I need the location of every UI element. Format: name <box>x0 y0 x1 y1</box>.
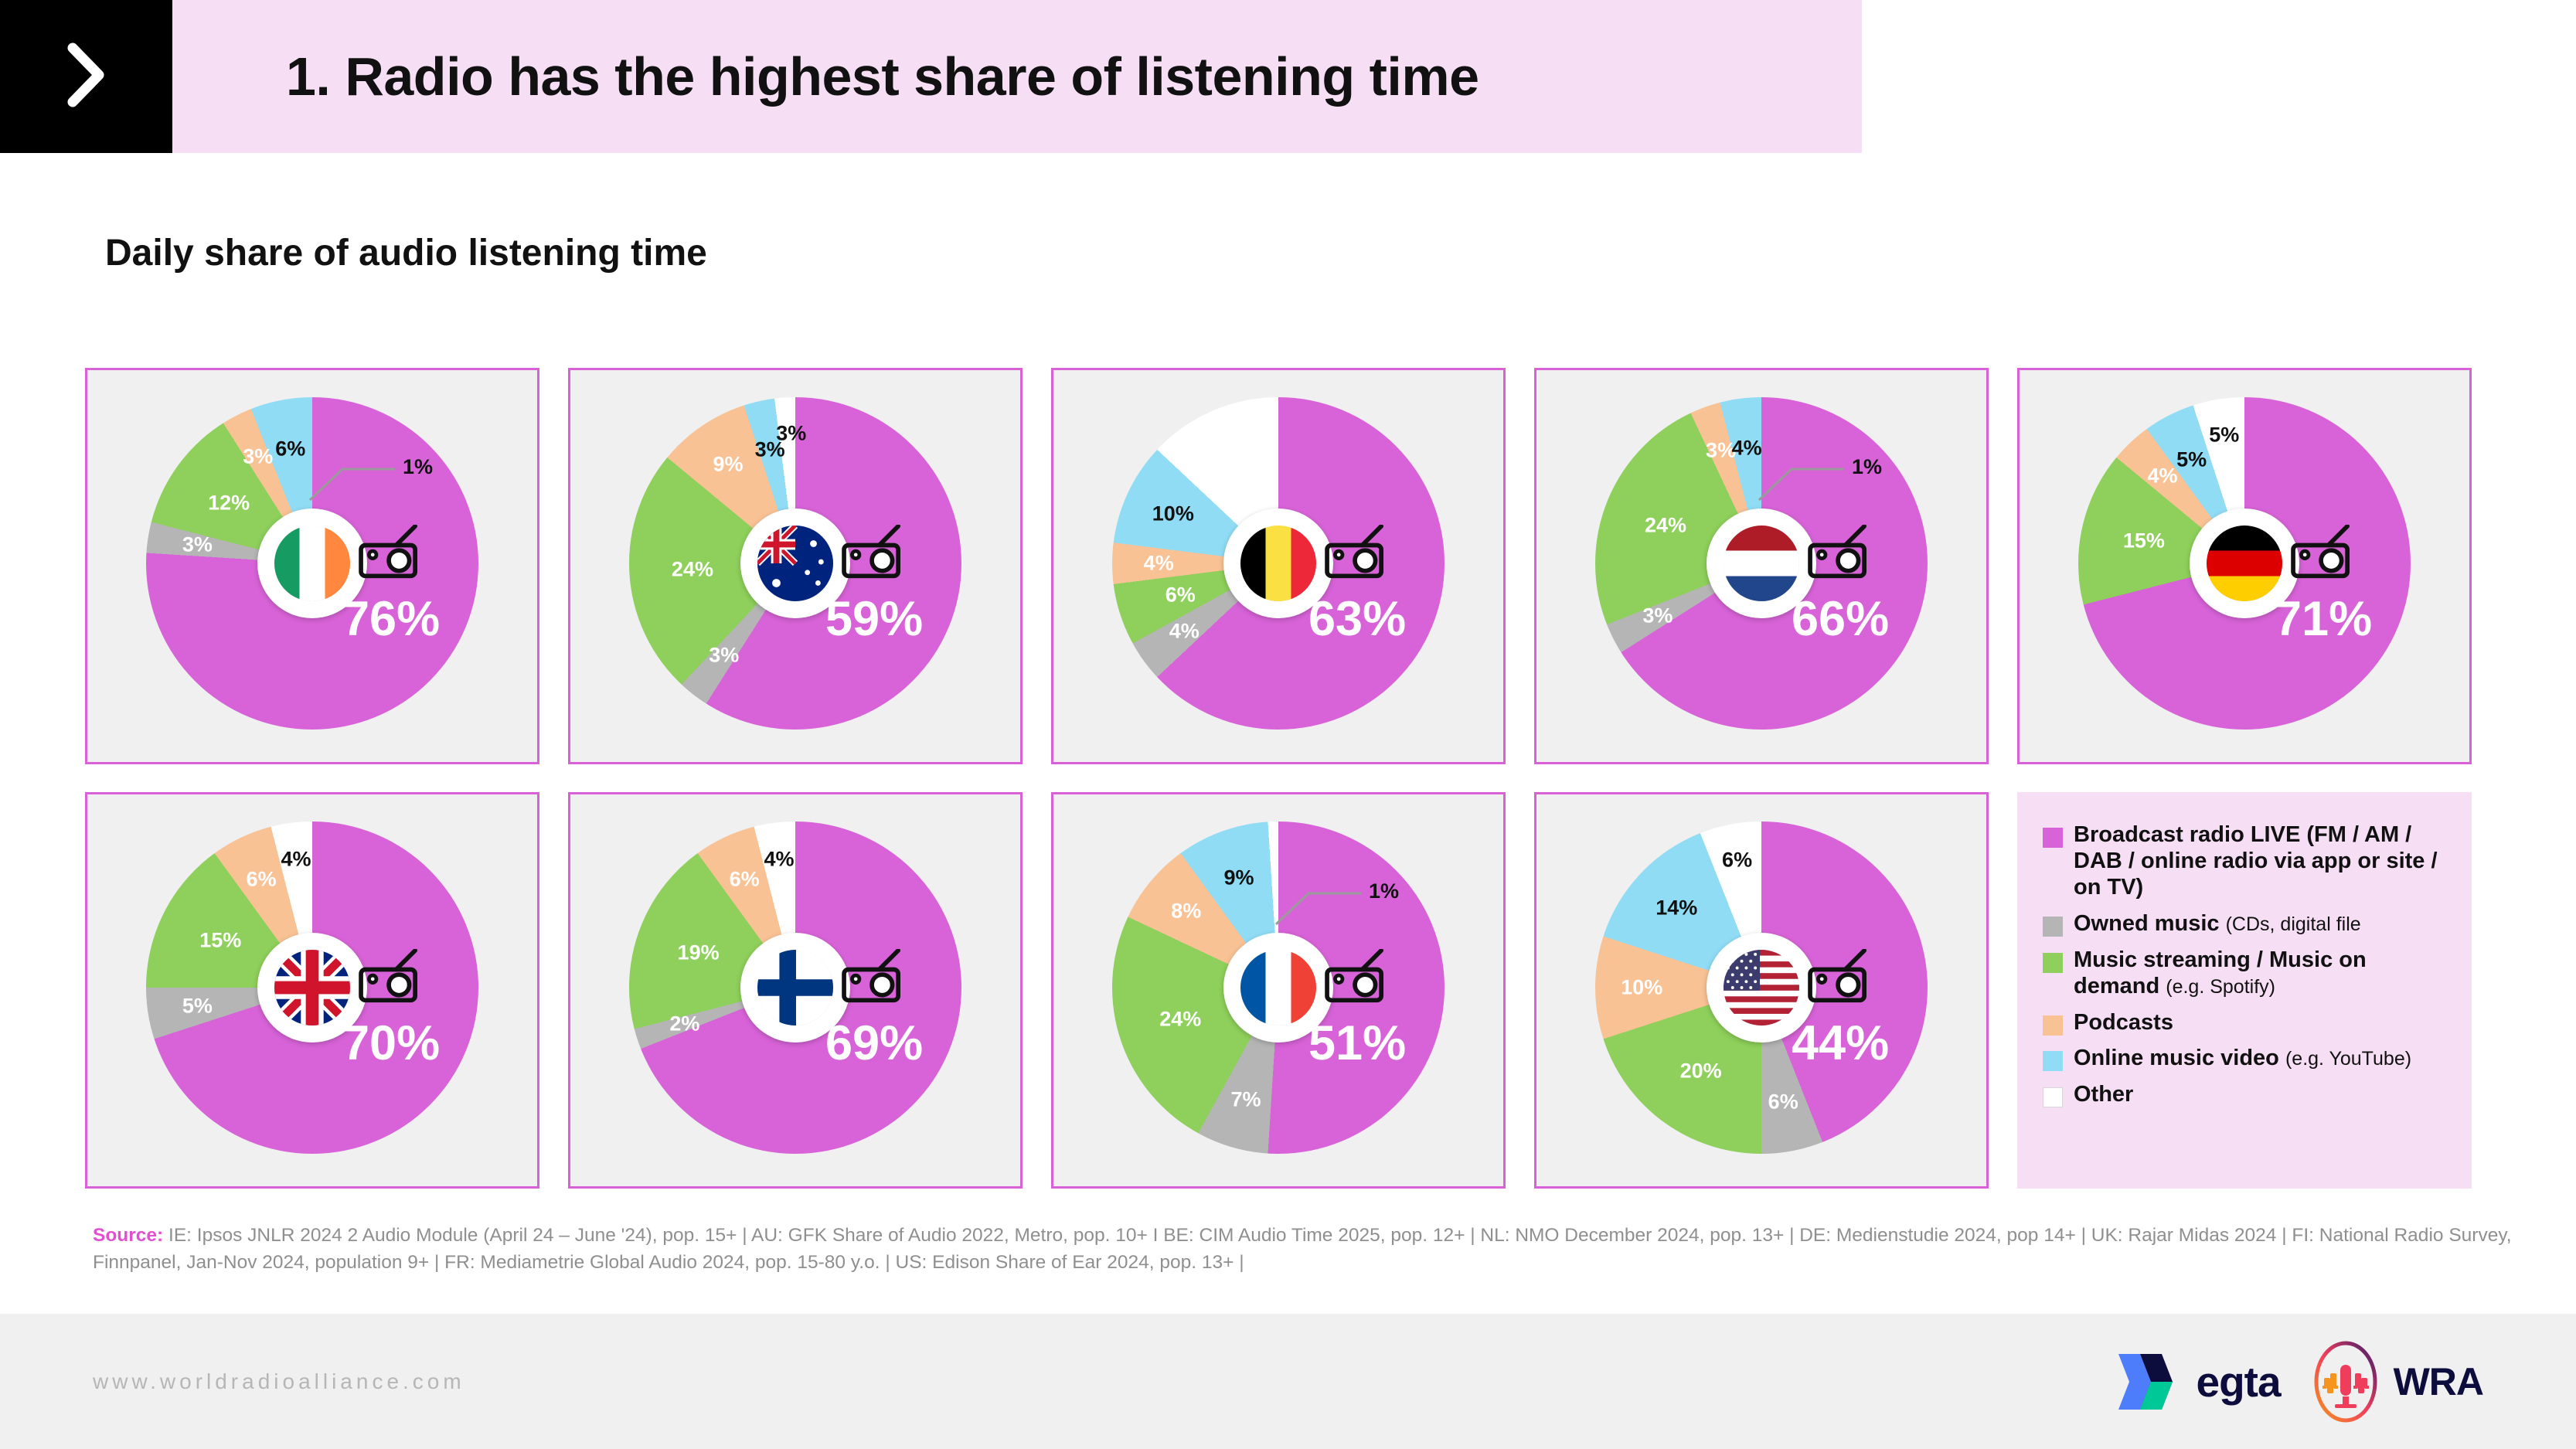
legend-item-broadcast-radio-live[interactable]: Broadcast radio LIVE (FM / AM / DAB / on… <box>2043 822 2448 901</box>
page-footer: www.worldradioalliance.com egta <box>0 1314 2576 1449</box>
radio-icon <box>1324 949 1387 1005</box>
flag-uk <box>274 950 350 1026</box>
donut-chart: 15%4%5%5% <box>2078 397 2411 730</box>
legend-item-owned-music[interactable]: Owned music (CDs, digital file <box>2043 911 2448 937</box>
radio-icon <box>841 949 904 1005</box>
radio-icon <box>358 525 421 580</box>
country-chart-card-fr: 7%24%8%9%51%1% <box>1051 792 1506 1189</box>
country-chart-card-ie: 3%12%3%6%76%1% <box>85 368 539 764</box>
radio-icon <box>1324 525 1387 580</box>
flag-usa <box>1724 950 1799 1026</box>
legend-swatch-icon <box>2043 917 2063 937</box>
legend-item-music-streaming-music-on-demand[interactable]: Music streaming / Music on demand (e.g. … <box>2043 947 2448 1000</box>
flag-netherlands <box>1724 526 1799 601</box>
legend-swatch-icon <box>2043 1015 2063 1036</box>
radio-icon <box>1807 949 1870 1005</box>
radio-icon <box>2290 525 2353 580</box>
wra-logo: WRA <box>2307 1339 2483 1424</box>
donut-chart: 3%24%3%4% <box>1595 397 1928 730</box>
slice-label-other: 1% <box>1369 879 1399 903</box>
footer-logos: egta WRA <box>2117 1339 2483 1424</box>
donut-chart-grid: 3%12%3%6%76%1%3%24%9%3%3%59%4%6%4%10%63%… <box>85 368 2512 1216</box>
wra-logo-text: WRA <box>2394 1359 2483 1404</box>
legend-item-online-music-video[interactable]: Online music video (e.g. YouTube) <box>2043 1046 2448 1072</box>
headline-percentage: 63% <box>1308 591 1406 647</box>
radio-icon <box>1807 525 1870 580</box>
donut-chart: 5%15%6%4% <box>146 821 478 1154</box>
page-title: 1. Radio has the highest share of listen… <box>286 46 1479 107</box>
slice-label-other: 1% <box>1852 455 1882 479</box>
radio-icon <box>841 525 904 580</box>
egta-logo-text: egta <box>2196 1357 2280 1406</box>
footer-website-url: www.worldradioalliance.com <box>93 1369 465 1394</box>
header-arrow-block <box>0 0 172 153</box>
country-chart-card-de: 15%4%5%5%71% <box>2017 368 2472 764</box>
legend-swatch-icon <box>2043 953 2063 973</box>
donut-chart: 7%24%8%9% <box>1112 821 1445 1154</box>
country-chart-card-be: 4%6%4%10%63% <box>1051 368 1506 764</box>
source-text: IE: Ipsos JNLR 2024 2 Audio Module (Apri… <box>93 1225 2512 1273</box>
headline-percentage: 44% <box>1792 1015 1889 1071</box>
radio-icon <box>841 525 904 580</box>
legend-swatch-icon <box>2043 1087 2063 1107</box>
flag-germany <box>2207 526 2282 601</box>
chevron-right-icon <box>65 42 108 112</box>
legend-item-podcasts[interactable]: Podcasts <box>2043 1010 2448 1036</box>
flag-finland <box>757 950 833 1026</box>
headline-percentage: 66% <box>1792 591 1889 647</box>
chart-row-2: 5%15%6%4%70%2%19%6%4%69%7%24%8%9%51%1%6%… <box>85 792 2512 1189</box>
legend-item-label: Owned music (CDs, digital file <box>2074 911 2361 937</box>
headline-percentage: 51% <box>1308 1015 1406 1071</box>
chart-row-1: 3%12%3%6%76%1%3%24%9%3%3%59%4%6%4%10%63%… <box>85 368 2512 764</box>
radio-icon <box>358 949 421 1005</box>
country-chart-card-nl: 3%24%3%4%66%1% <box>1534 368 1989 764</box>
radio-icon <box>1807 525 1870 580</box>
legend-item-label: Broadcast radio LIVE (FM / AM / DAB / on… <box>2074 822 2448 901</box>
legend-item-label: Music streaming / Music on demand (e.g. … <box>2074 947 2448 1000</box>
headline-percentage: 71% <box>2275 591 2372 647</box>
country-chart-card-us: 6%20%10%14%6%44% <box>1534 792 1989 1189</box>
source-label: Source: <box>93 1225 163 1246</box>
source-note: Source: IE: Ipsos JNLR 2024 2 Audio Modu… <box>93 1223 2512 1277</box>
radio-icon <box>358 949 421 1005</box>
flag-france <box>1240 950 1316 1026</box>
legend-item-label: Online music video (e.g. YouTube) <box>2074 1046 2411 1072</box>
headline-percentage: 76% <box>342 591 440 647</box>
chart-legend: Broadcast radio LIVE (FM / AM / DAB / on… <box>2017 792 2472 1189</box>
legend-swatch-icon <box>2043 828 2063 848</box>
radio-icon <box>1324 949 1387 1005</box>
flag-australia <box>757 526 833 601</box>
radio-icon <box>1324 525 1387 580</box>
egta-mark-icon <box>2117 1343 2188 1420</box>
radio-icon <box>358 525 421 580</box>
country-chart-card-uk: 5%15%6%4%70% <box>85 792 539 1189</box>
country-chart-card-au: 3%24%9%3%3%59% <box>568 368 1023 764</box>
legend-item-other[interactable]: Other <box>2043 1082 2448 1108</box>
headline-percentage: 59% <box>825 591 923 647</box>
legend-item-label: Podcasts <box>2074 1010 2173 1036</box>
egta-logo: egta <box>2117 1343 2280 1420</box>
headline-percentage: 69% <box>825 1015 923 1071</box>
radio-icon <box>1807 949 1870 1005</box>
donut-chart: 3%24%9%3%3% <box>629 397 961 730</box>
flag-belgium <box>1240 526 1316 601</box>
donut-chart: 3%12%3%6% <box>146 397 478 730</box>
donut-chart: 2%19%6%4% <box>629 821 961 1154</box>
radio-icon <box>2290 525 2353 580</box>
legend-item-label: Other <box>2074 1082 2133 1108</box>
country-chart-card-fi: 2%19%6%4%69% <box>568 792 1023 1189</box>
slice-label-other: 1% <box>403 455 433 479</box>
section-subtitle: Daily share of audio listening time <box>105 232 707 274</box>
radio-icon <box>841 949 904 1005</box>
flag-ireland <box>274 526 350 601</box>
donut-chart: 6%20%10%14%6% <box>1595 821 1928 1154</box>
page-header: 1. Radio has the highest share of listen… <box>0 0 1862 153</box>
headline-percentage: 70% <box>342 1015 440 1071</box>
legend-swatch-icon <box>2043 1051 2063 1071</box>
wra-mic-icon <box>2307 1339 2384 1424</box>
donut-chart: 4%6%4%10% <box>1112 397 1445 730</box>
